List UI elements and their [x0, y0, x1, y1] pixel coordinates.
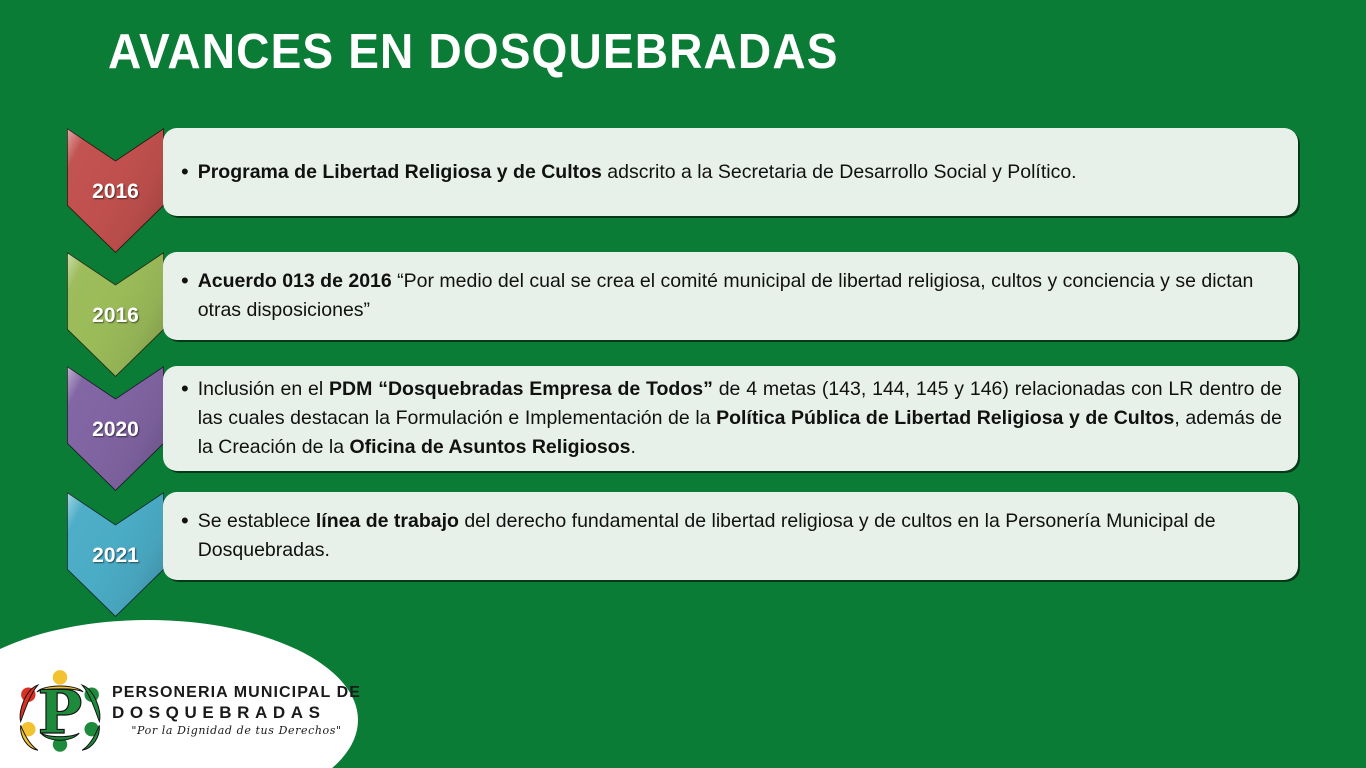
timeline-item-box: •Inclusión en el PDM “Dosquebradas Empre…: [163, 366, 1298, 471]
timeline-item-text: Se establece línea de trabajo del derech…: [198, 507, 1282, 565]
chevron-year-label: 2021: [67, 544, 164, 568]
bullet-icon: •: [181, 266, 189, 296]
text-run: Inclusión en el: [198, 378, 329, 400]
text-run: adscrito a la Secretaria de Desarrollo S…: [602, 161, 1077, 183]
bullet-icon: •: [181, 374, 189, 404]
timeline-item-box: •Se establece línea de trabajo del derec…: [163, 492, 1298, 580]
svg-text:P: P: [38, 678, 83, 748]
text-emphasis: Política Pública de Libertad Religiosa y…: [716, 407, 1174, 429]
text-run: .: [630, 436, 635, 458]
timeline-chevron-2020-2: 2020: [67, 366, 164, 491]
bullet-icon: •: [181, 506, 189, 536]
text-emphasis: Programa de Libertad Religiosa y de Cult…: [198, 161, 602, 183]
list-item: •Programa de Libertad Religiosa y de Cul…: [181, 158, 1282, 187]
timeline-item-text: Inclusión en el PDM “Dosquebradas Empres…: [198, 375, 1282, 462]
timeline-chevron-2016-1: 2016: [67, 252, 164, 377]
timeline-chevron-2021-3: 2021: [67, 492, 164, 617]
slide-canvas: AVANCES EN DOSQUEBRADAS 2016•Programa de…: [0, 0, 1366, 768]
list-item: •Se establece línea de trabajo del derec…: [181, 507, 1282, 565]
text-run: Se establece: [198, 510, 316, 532]
timeline-chevron-2016-0: 2016: [67, 128, 164, 253]
chevron-year-label: 2016: [67, 180, 164, 204]
timeline-item-box: •Acuerdo 013 de 2016 “Por medio del cual…: [163, 252, 1298, 340]
organization-logo: P PERSONERIA MUNICIPAL DE DOSQUEBRADAS "…: [12, 660, 342, 760]
logo-tagline: "Por la Dignidad de tus Derechos": [112, 725, 361, 736]
logo-line-2: DOSQUEBRADAS: [112, 704, 361, 721]
list-item: •Acuerdo 013 de 2016 “Por medio del cual…: [181, 267, 1282, 325]
list-item: •Inclusión en el PDM “Dosquebradas Empre…: [181, 375, 1282, 462]
logo-wordmark: PERSONERIA MUNICIPAL DE DOSQUEBRADAS "Po…: [112, 685, 361, 736]
text-emphasis: línea de trabajo: [316, 510, 459, 532]
text-emphasis: Acuerdo 013 de 2016: [198, 270, 392, 292]
timeline-item-text: Acuerdo 013 de 2016 “Por medio del cual …: [198, 267, 1282, 325]
timeline-item-text: Programa de Libertad Religiosa y de Cult…: [198, 158, 1282, 187]
bullet-icon: •: [181, 157, 189, 187]
logo-line-1: PERSONERIA MUNICIPAL DE: [112, 685, 361, 701]
chevron-year-label: 2016: [67, 304, 164, 328]
personeria-emblem-icon: P: [12, 662, 108, 758]
timeline-item-box: •Programa de Libertad Religiosa y de Cul…: [163, 128, 1298, 216]
page-title: AVANCES EN DOSQUEBRADAS: [108, 22, 1142, 82]
text-emphasis: Oficina de Asuntos Religiosos: [349, 436, 630, 458]
text-emphasis: PDM “Dosquebradas Empresa de Todos”: [329, 378, 713, 400]
chevron-year-label: 2020: [67, 418, 164, 442]
